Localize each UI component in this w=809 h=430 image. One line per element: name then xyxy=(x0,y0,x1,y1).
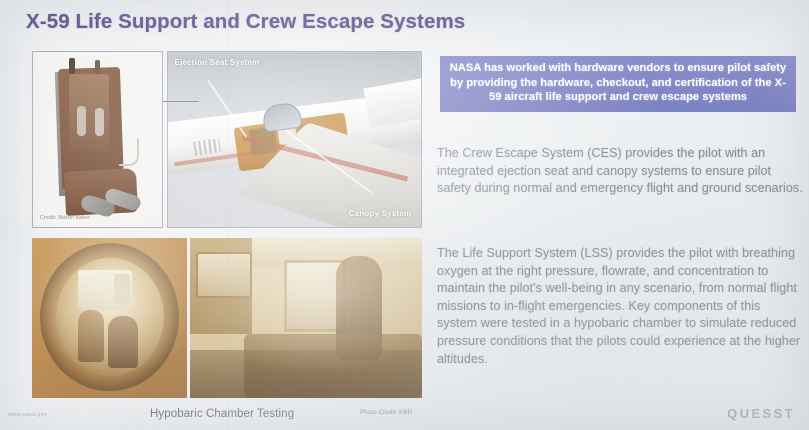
page-title: X-59 Life Support and Crew Escape System… xyxy=(26,10,465,34)
seat-strap-a-shape xyxy=(77,106,86,136)
leader-line-seat-to-aircraft xyxy=(163,101,199,102)
photo-x59-aircraft: Ejection Seat System Canopy System xyxy=(167,51,422,228)
photo-ejection-seat: Credit: Martin Baker xyxy=(32,51,163,228)
caption-photo-credit-kbr: Photo Credit: KBR xyxy=(360,409,412,416)
seat-strap-b-shape xyxy=(95,108,104,136)
label-ejection-seat-system: Ejection Seat System xyxy=(174,58,260,68)
label-canopy-system: Canopy System xyxy=(345,209,415,219)
seat-cable-shape xyxy=(119,138,139,166)
quesst-logo: QUESST xyxy=(727,406,795,421)
photo-hypobaric-chamber-window xyxy=(32,238,187,398)
seat-handle-a-shape xyxy=(69,58,75,74)
photo-credit-martin-baker: Credit: Martin Baker xyxy=(40,215,90,221)
footer-url: www.nasa.gov xyxy=(8,412,47,418)
caption-hypobaric-chamber-testing: Hypobaric Chamber Testing xyxy=(150,408,294,420)
paragraph-life-support-system: The Life Support System (LSS) provides t… xyxy=(437,245,803,368)
nasa-callout-box: NASA has worked with hardware vendors to… xyxy=(440,56,796,112)
chamber-equipment-panel-secondary-shape xyxy=(114,274,130,304)
photo-hypobaric-chamber-interior xyxy=(190,238,422,398)
chamber-window-inner-shape xyxy=(56,258,164,376)
interior-window-shape xyxy=(196,252,252,298)
paragraph-crew-escape-system: The Crew Escape System (CES) provides th… xyxy=(437,145,803,198)
slide-canvas: X-59 Life Support and Crew Escape System… xyxy=(0,0,809,430)
chamber-person-a-shape xyxy=(78,310,104,362)
seat-handle-b-shape xyxy=(95,60,100,74)
chamber-person-b-shape xyxy=(108,316,138,368)
interior-foreground-shape xyxy=(190,350,422,398)
